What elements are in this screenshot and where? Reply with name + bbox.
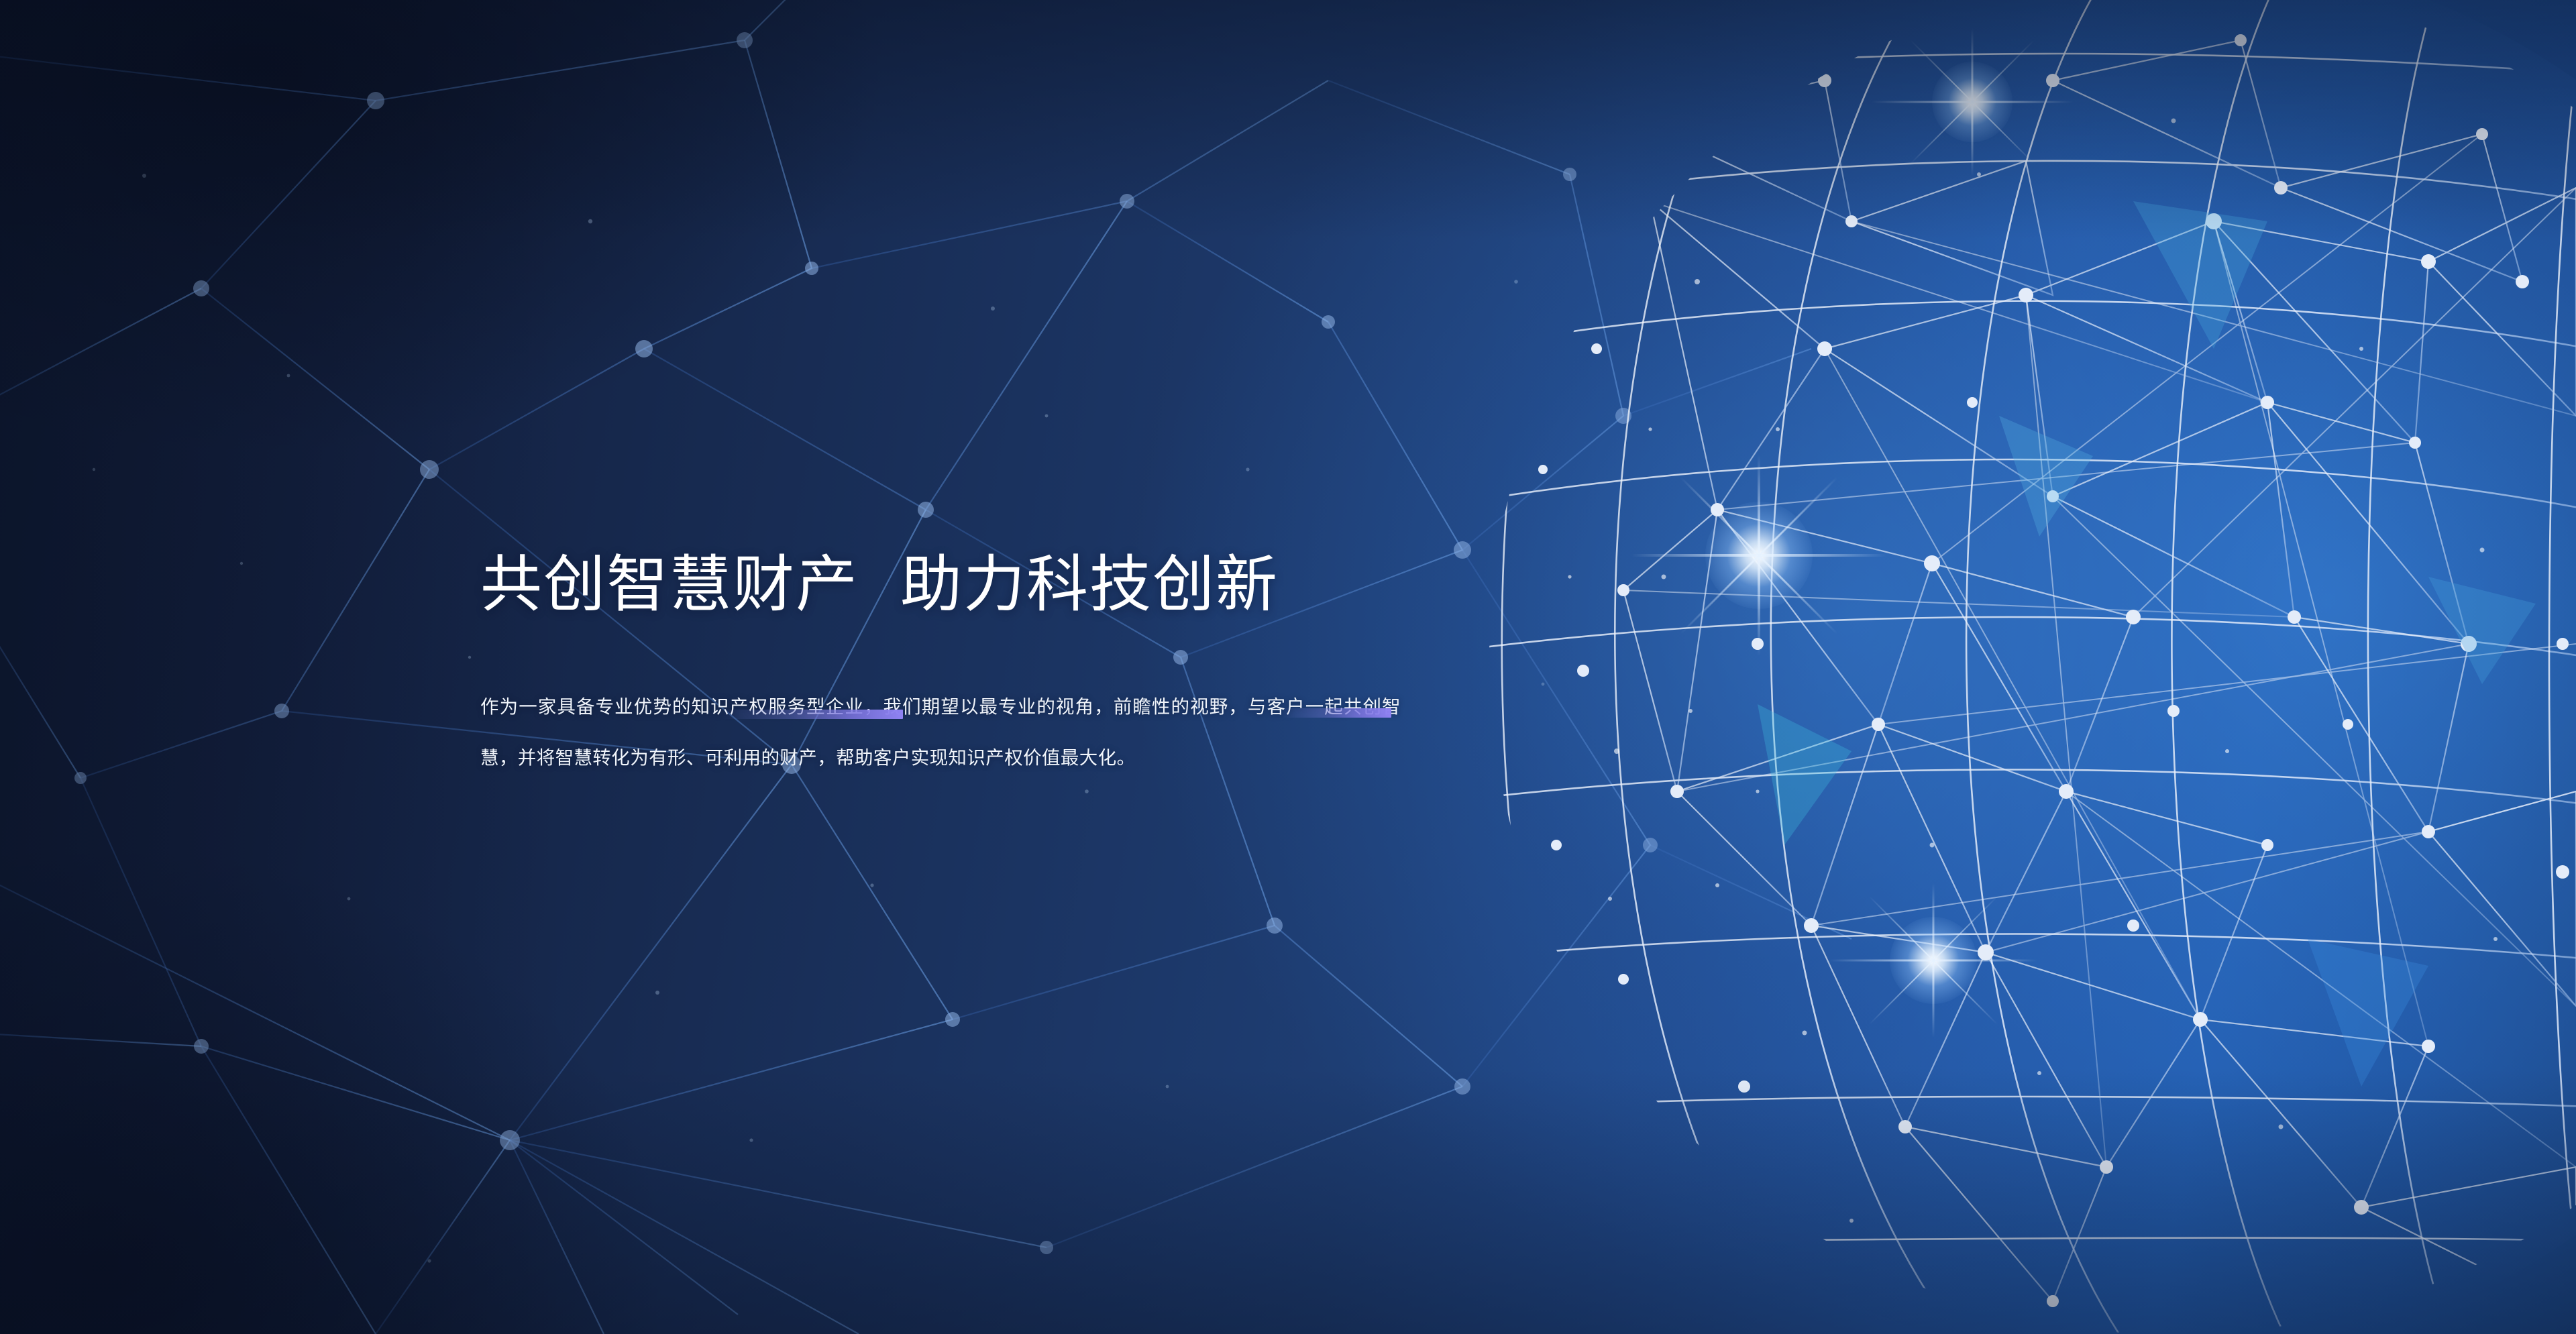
hero-banner: 共创智慧财产助力科技创新 作为一家具备专业优势的知识产权服务型企业，我们期望以最… xyxy=(0,0,2576,1334)
page-title: 共创智慧财产助力科技创新 xyxy=(480,550,1419,620)
accent-bar-under-caizhan xyxy=(724,710,903,719)
hero-copy: 共创智慧财产助力科技创新 作为一家具备专业优势的知识产权服务型企业，我们期望以最… xyxy=(480,550,1419,783)
hero-description: 作为一家具备专业优势的知识产权服务型企业，我们期望以最专业的视角，前瞻性的视野，… xyxy=(480,681,1401,783)
accent-bar-under-chuangxin xyxy=(1283,708,1391,718)
headline-part-1: 共创智慧财产 xyxy=(480,551,859,619)
headline-part-2: 助力科技创新 xyxy=(900,551,1279,619)
